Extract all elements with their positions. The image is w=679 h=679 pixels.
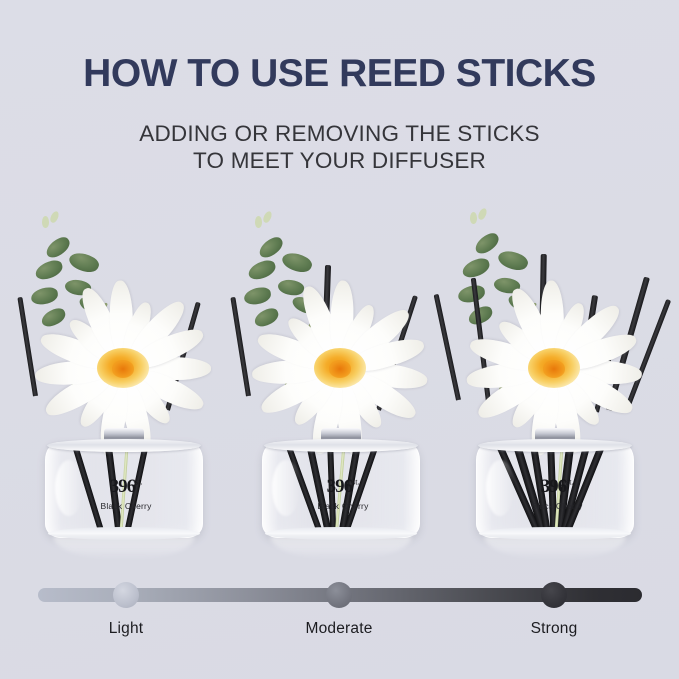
diffuser-bottle: 396st. Black Cherry	[45, 442, 203, 538]
bottle-reflection	[270, 536, 412, 560]
slider-label-light: Light	[56, 620, 196, 638]
diffuser-comparison-scene: 396st. Black Cherry	[0, 210, 679, 560]
leaf-icon	[243, 286, 272, 306]
leaf-icon	[246, 258, 278, 282]
reed-stick	[230, 297, 251, 397]
slider-handle-strong[interactable]	[541, 582, 567, 608]
page-subtitle: ADDING OR REMOVING THE STICKS TO MEET YO…	[0, 120, 679, 174]
flower-decoration	[466, 306, 642, 430]
slider-label-moderate: Moderate	[269, 620, 409, 638]
page-title: HOW TO USE REED STICKS	[0, 52, 679, 96]
slider-label-strong: Strong	[484, 620, 624, 638]
bottle-top-rim	[264, 439, 418, 452]
foliage-bud-icon	[262, 210, 273, 224]
page-subtitle-line-2: TO MEET YOUR DIFFUSER	[0, 147, 679, 174]
bottle-top-rim	[478, 439, 632, 452]
foliage-bud-icon	[49, 210, 60, 224]
leaf-icon	[472, 230, 502, 256]
diffuser-product-light: 396st. Black Cherry	[17, 210, 232, 560]
poster-canvas: HOW TO USE REED STICKS ADDING OR REMOVIN…	[0, 0, 679, 679]
page-subtitle-line-1: ADDING OR REMOVING THE STICKS	[139, 121, 539, 146]
diffuser-product-moderate: 396st. Black Cherry	[234, 210, 449, 560]
leaf-icon	[460, 256, 492, 280]
leaf-icon	[67, 249, 101, 276]
intensity-slider[interactable]	[38, 580, 642, 610]
flower-center	[528, 348, 580, 388]
diffuser-bottle: 396st. Black Cherry	[476, 442, 634, 538]
flower-center	[314, 348, 366, 388]
leaf-icon	[496, 247, 530, 274]
bottle-reflection	[53, 536, 195, 560]
leaf-icon	[280, 249, 314, 276]
bottle-glass	[45, 442, 203, 538]
flower-center	[97, 348, 149, 388]
slider-handle-moderate[interactable]	[326, 582, 352, 608]
bottle-reflection	[484, 536, 626, 560]
bottle-glass	[476, 442, 634, 538]
bottle-top-rim	[47, 439, 201, 452]
slider-tick-labels: Light Moderate Strong	[0, 620, 679, 642]
bottle-glass	[262, 442, 420, 538]
foliage-bud-icon	[42, 216, 49, 228]
flower-decoration	[35, 306, 211, 430]
slider-handle-light[interactable]	[113, 582, 139, 608]
foliage-bud-icon	[255, 216, 262, 228]
flower-decoration	[252, 306, 428, 430]
foliage-bud-icon	[470, 212, 477, 224]
leaf-icon	[256, 234, 286, 260]
leaf-icon	[30, 286, 59, 306]
foliage-bud-icon	[477, 207, 488, 221]
leaf-icon	[277, 277, 306, 298]
diffuser-product-strong: 396st. Black Cherry	[448, 210, 663, 560]
diffuser-bottle: 396st. Black Cherry	[262, 442, 420, 538]
leaf-icon	[43, 234, 73, 260]
leaf-icon	[33, 258, 65, 282]
